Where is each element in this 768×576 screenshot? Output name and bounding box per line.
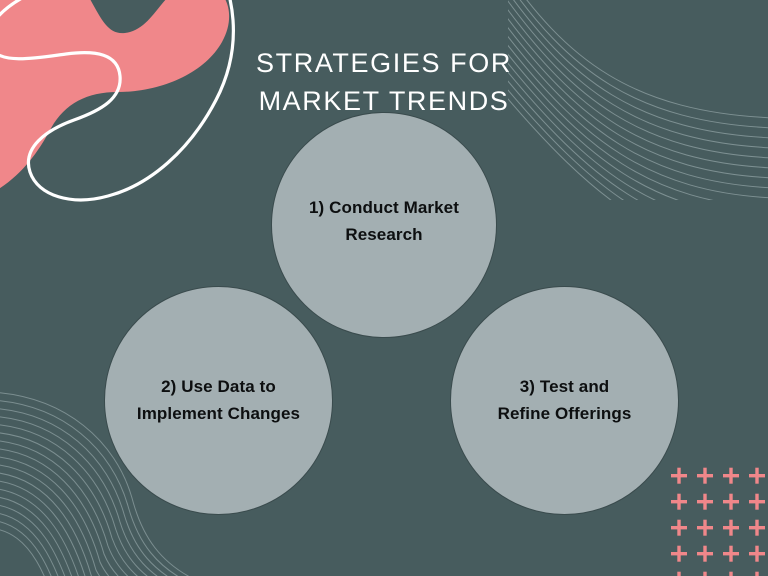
step-circle-1[interactable]: 1) Conduct Market Research xyxy=(271,112,497,338)
slide-title: Strategies for Market Trends xyxy=(0,44,768,121)
step-3-label: 3) Test and Refine Offerings xyxy=(484,374,646,428)
coral-plus-grid-pattern xyxy=(658,451,768,576)
slide-canvas: Strategies for Market Trends 1) Conduct … xyxy=(0,0,768,576)
step-circle-3[interactable]: 3) Test and Refine Offerings xyxy=(450,286,679,515)
step-1-label: 1) Conduct Market Research xyxy=(295,195,473,249)
step-circle-2[interactable]: 2) Use Data to Implement Changes xyxy=(104,286,333,515)
step-2-label: 2) Use Data to Implement Changes xyxy=(123,374,314,428)
